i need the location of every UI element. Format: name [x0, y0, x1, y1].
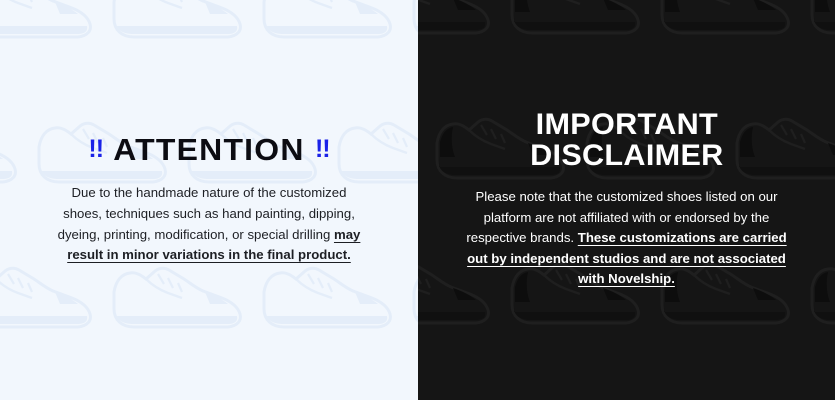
attention-heading-text: ATTENTION	[113, 134, 304, 165]
double-exclamation-right-icon: !!	[315, 137, 330, 162]
attention-body-plain: Due to the handmade nature of the custom…	[58, 185, 355, 242]
disclaimer-heading-line2: DISCLAIMER	[530, 141, 723, 172]
attention-content: !! ATTENTION !! Due to the handmade natu…	[0, 0, 418, 400]
disclaimer-heading-line1: IMPORTANT	[530, 110, 723, 141]
attention-body: Due to the handmade nature of the custom…	[54, 183, 364, 266]
double-exclamation-left-icon: !!	[88, 137, 103, 162]
attention-heading: !! ATTENTION !!	[88, 134, 329, 165]
attention-panel: !! ATTENTION !! Due to the handmade natu…	[0, 0, 418, 400]
attention-disclaimer-banner: !! ATTENTION !! Due to the handmade natu…	[0, 0, 835, 400]
disclaimer-content: IMPORTANT DISCLAIMER Please note that th…	[418, 0, 835, 400]
disclaimer-panel: IMPORTANT DISCLAIMER Please note that th…	[418, 0, 835, 400]
disclaimer-heading: IMPORTANT DISCLAIMER	[530, 110, 723, 171]
disclaimer-body: Please note that the customized shoes li…	[462, 187, 792, 289]
